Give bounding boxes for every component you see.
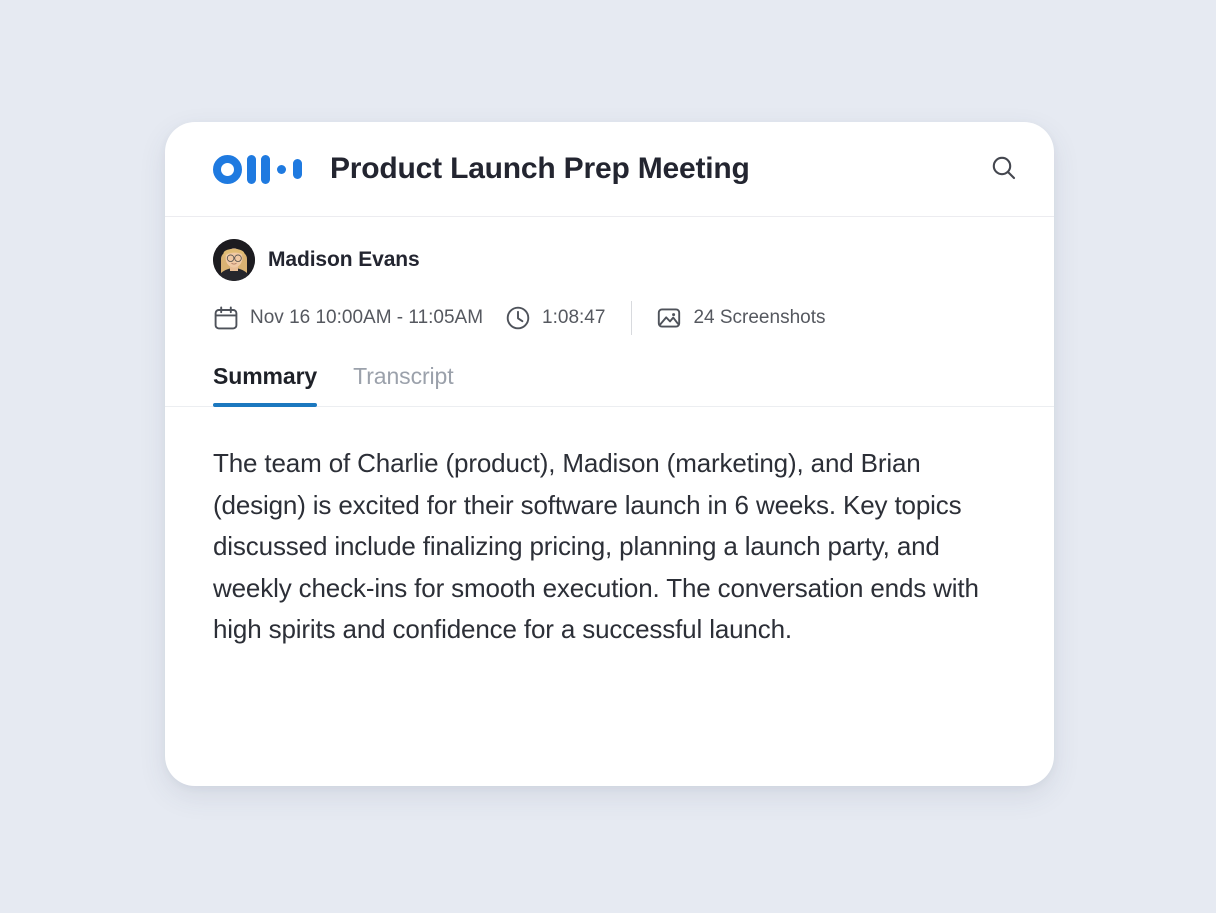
otter-logo-bar-3	[293, 159, 302, 179]
calendar-icon	[213, 305, 239, 331]
otter-logo-dot	[277, 165, 286, 174]
meeting-screenshots[interactable]: 24 Screenshots	[656, 305, 825, 331]
clock-icon	[505, 305, 531, 331]
page-title: Product Launch Prep Meeting	[330, 152, 984, 186]
meta-divider	[631, 301, 632, 335]
meeting-date: Nov 16 10:00AM - 11:05AM	[213, 305, 483, 331]
card-body: Madison Evans Nov 16 10:00AM - 11:05AM	[165, 217, 1054, 651]
speaker-name: Madison Evans	[268, 248, 420, 272]
meeting-duration-label: 1:08:47	[542, 307, 605, 329]
meeting-screenshots-label: 24 Screenshots	[693, 307, 825, 329]
avatar[interactable]	[213, 239, 255, 281]
meeting-duration: 1:08:47	[505, 305, 605, 331]
summary-text: The team of Charlie (product), Madison (…	[213, 407, 1003, 651]
image-icon	[656, 305, 682, 331]
search-button[interactable]	[984, 149, 1024, 189]
tab-bar: Summary Transcript	[165, 363, 1054, 407]
card-header: Product Launch Prep Meeting	[165, 122, 1054, 217]
tab-summary[interactable]: Summary	[213, 363, 317, 406]
meeting-card: Product Launch Prep Meeting	[165, 122, 1054, 786]
otter-logo-bar-2	[261, 155, 270, 184]
meeting-meta-row: Nov 16 10:00AM - 11:05AM 1:08:47	[213, 301, 1006, 335]
otter-logo-ring	[213, 155, 242, 184]
otter-logo-bar-1	[247, 155, 256, 184]
search-icon	[989, 153, 1019, 186]
meeting-date-label: Nov 16 10:00AM - 11:05AM	[250, 307, 483, 329]
otter-logo[interactable]	[213, 155, 302, 184]
speaker-row: Madison Evans	[213, 217, 1006, 281]
tab-transcript[interactable]: Transcript	[353, 363, 453, 406]
